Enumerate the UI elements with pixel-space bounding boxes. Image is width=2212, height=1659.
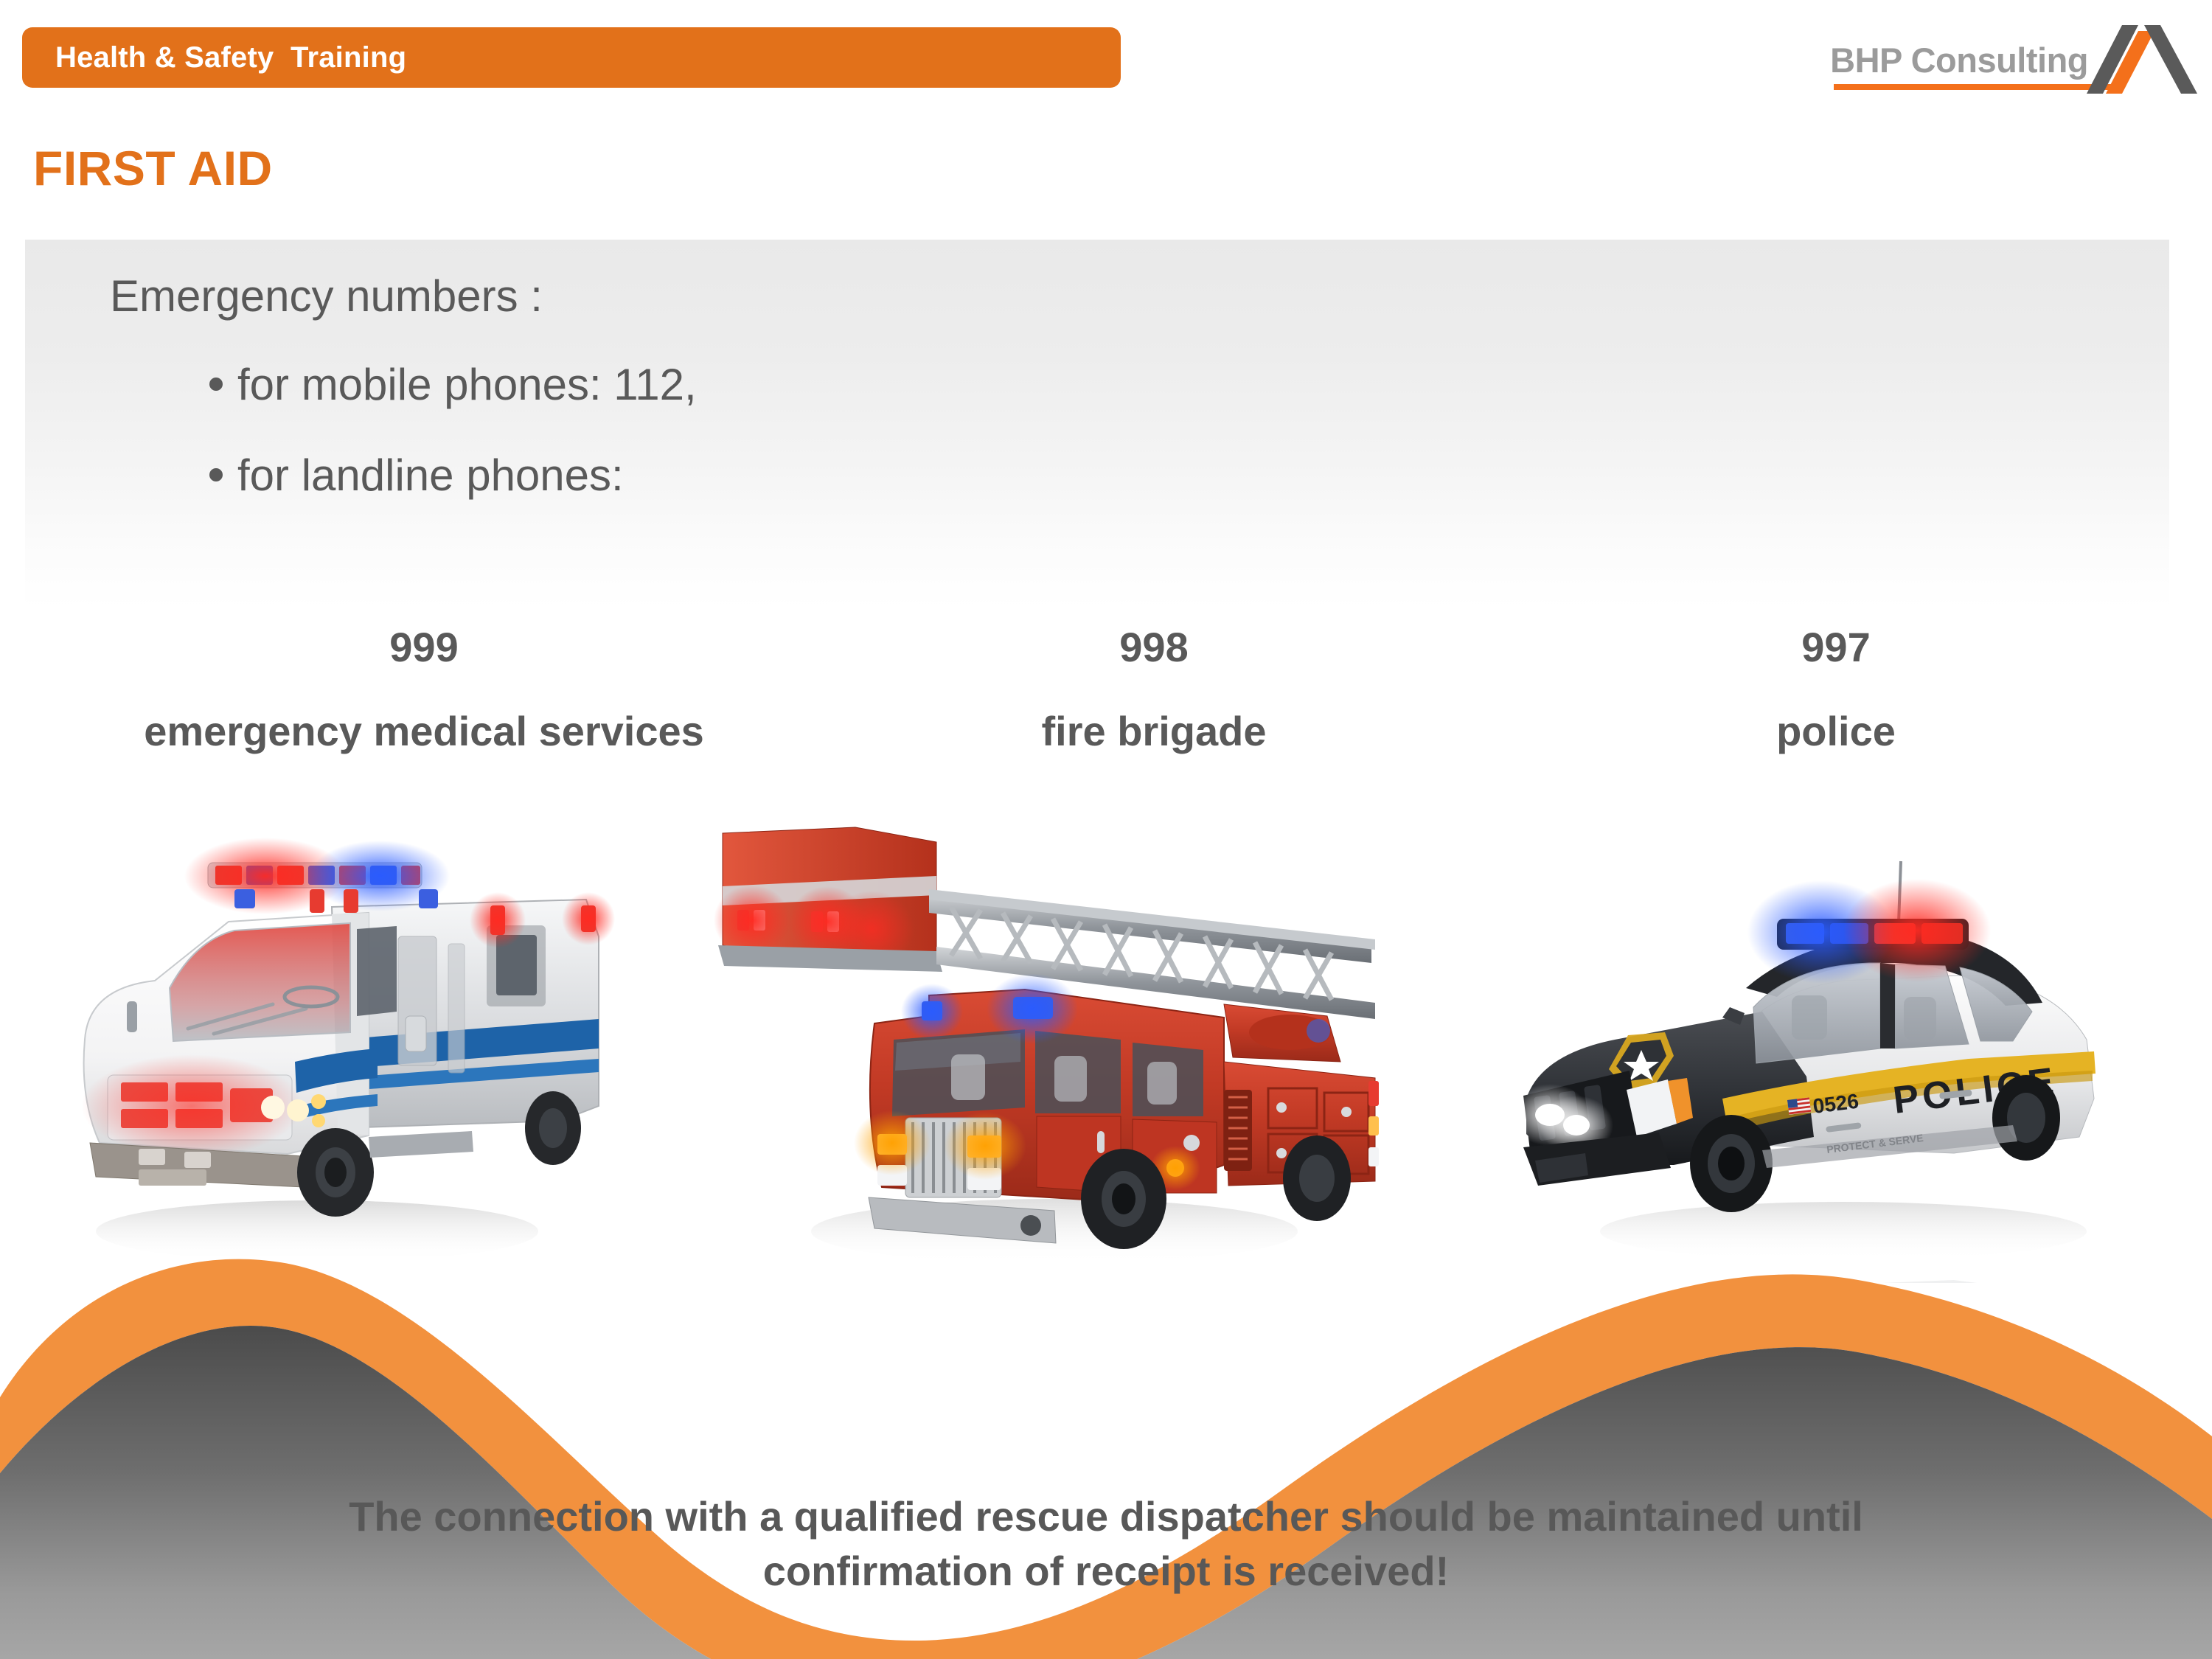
bullet-mobile-phones-label: for mobile phones: 112, [237, 359, 697, 410]
footer-message: The connection with a qualified rescue d… [0, 1489, 2212, 1599]
emergency-services-row: 999 emergency medical services 998 fire … [0, 612, 2212, 833]
fire-truck-image [708, 818, 1416, 1290]
brand-logo-underline [1834, 84, 2124, 90]
footer-message-line2: confirmation of receipt is received! [118, 1544, 2094, 1599]
service-number-fire: 998 [848, 627, 1460, 668]
bullet-dot-icon [209, 468, 223, 481]
brand-logo-text: BHP Consulting [1830, 40, 2088, 80]
police-car-image: POLICE 0526 PROTECT & SERVE [1497, 855, 2153, 1283]
header-banner-label: Health & Safety Training [55, 41, 406, 74]
service-number-medical: 999 [0, 627, 848, 668]
page-title: FIRST AID [33, 140, 273, 196]
bullet-landline-phones: for landline phones: [209, 450, 624, 501]
service-column-fire: 998 fire brigade [848, 612, 1460, 833]
brand-logo: BHP Consulting [1829, 15, 2197, 96]
bullet-landline-phones-label: for landline phones: [237, 450, 624, 501]
us-flag-decal [1787, 1097, 1811, 1115]
service-number-police: 997 [1460, 627, 2212, 668]
footer-message-line1: The connection with a qualified rescue d… [118, 1489, 2094, 1544]
bullet-dot-icon [209, 378, 223, 391]
service-name-medical: emergency medical services [0, 711, 848, 752]
service-name-police: police [1460, 711, 2212, 752]
bullet-mobile-phones: for mobile phones: 112, [209, 359, 697, 410]
header-banner: Health & Safety Training [22, 27, 1121, 88]
service-column-medical: 999 emergency medical services [0, 612, 848, 833]
mountain-chevron-icon [2087, 25, 2197, 94]
slide-canvas: Health & Safety Training BHP Consulting … [0, 0, 2212, 1659]
content-panel: Emergency numbers : for mobile phones: 1… [25, 240, 2169, 608]
service-name-fire: fire brigade [848, 711, 1460, 752]
service-column-police: 997 police [1460, 612, 2212, 833]
emergency-numbers-heading: Emergency numbers : [110, 271, 543, 321]
ambulance-image [44, 818, 634, 1290]
